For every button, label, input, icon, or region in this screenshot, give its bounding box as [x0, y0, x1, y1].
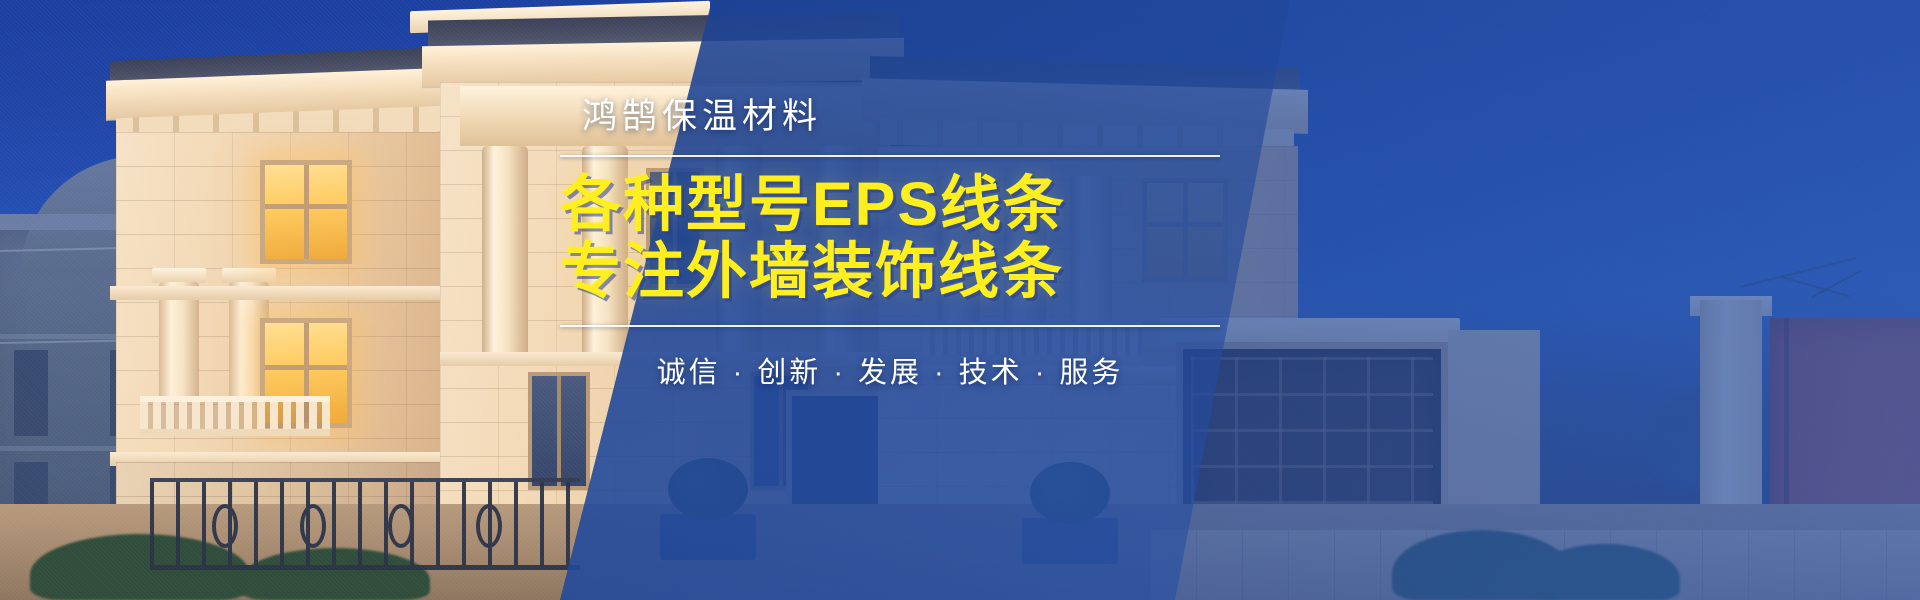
left-wing-band	[110, 286, 450, 300]
left-wing-column	[159, 282, 199, 402]
promo-banner: 鸿鹄保温材料 各种型号EPS线条 专注外墙装饰线条 诚信·创新·发展·技术·服务	[0, 0, 1920, 600]
portico-column	[482, 146, 528, 361]
slogan: 诚信·创新·发展·技术·服务	[560, 349, 1220, 391]
fence-ornament	[476, 504, 502, 548]
slogan-item-3: 技术	[959, 357, 1023, 389]
slogan-item-0: 诚信	[657, 357, 721, 389]
balustrade	[140, 396, 330, 436]
column-capital	[222, 268, 276, 283]
fence-ornament	[388, 504, 414, 548]
slogan-separator: ·	[725, 357, 754, 389]
brand-name: 鸿鹄保温材料	[560, 96, 1220, 138]
slogan-separator: ·	[1027, 357, 1056, 389]
center-cornice	[422, 38, 904, 88]
slogan-separator: ·	[926, 357, 955, 389]
fence-ornament	[212, 504, 238, 548]
fence-ornament	[300, 504, 326, 548]
planter-box	[1022, 518, 1118, 564]
slogan-item-1: 创新	[757, 357, 821, 389]
slogan-separator: ·	[825, 357, 854, 389]
banner-copy: 鸿鹄保温材料 各种型号EPS线条 专注外墙装饰线条 诚信·创新·发展·技术·服务	[560, 96, 1220, 391]
lit-window	[260, 160, 352, 264]
headline: 各种型号EPS线条 专注外墙装饰线条	[560, 171, 1220, 305]
potted-plant	[1030, 462, 1110, 524]
iron-fence	[150, 478, 580, 570]
potted-plant	[668, 458, 748, 520]
divider-top	[560, 155, 1220, 157]
slogan-item-2: 发展	[858, 357, 922, 389]
divider-bottom	[560, 325, 1220, 327]
slogan-item-4: 服务	[1059, 357, 1123, 389]
headline-line-1: 各种型号EPS线条	[560, 170, 1066, 238]
column-capital	[152, 268, 206, 283]
planter-box	[660, 514, 756, 560]
headline-line-2: 专注外墙装饰线条	[560, 237, 1064, 305]
background-window	[14, 350, 48, 436]
